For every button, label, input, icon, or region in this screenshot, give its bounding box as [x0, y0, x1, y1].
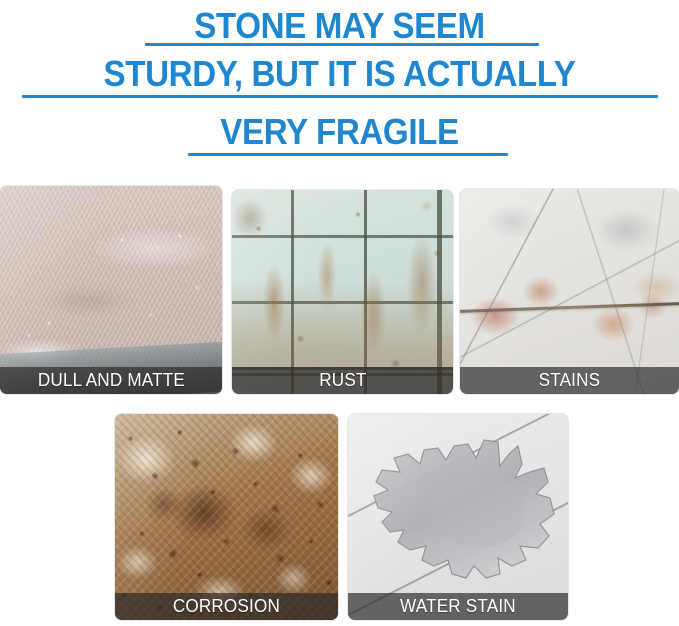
damage-tile-stains[interactable]: STAINS [460, 189, 679, 394]
damage-tile-dull-and-matte[interactable]: DULL AND MATTE [0, 186, 222, 394]
damage-tile-corrosion[interactable]: CORROSION [115, 414, 338, 620]
headline-underline-1 [145, 43, 539, 46]
damage-tile-water-stain[interactable]: WATER STAIN [348, 414, 568, 620]
caption-bar: RUST [232, 367, 453, 394]
caption-label: DULL AND MATTE [37, 370, 184, 391]
water-splash-shape-icon [348, 414, 568, 620]
stained-cracked-marble-photo [460, 189, 679, 394]
rusty-mint-green-tile-wall-photo [232, 190, 453, 394]
headline-underline-2 [22, 95, 658, 98]
water-stain-on-grey-tile-photo [348, 414, 568, 620]
caption-bar: DULL AND MATTE [0, 367, 222, 394]
damage-tile-rust[interactable]: RUST [232, 190, 453, 394]
headline-line-2: STURDY, BUT IT IS ACTUALLY [27, 54, 652, 94]
headline-block: STONE MAY SEEM STURDY, BUT IT IS ACTUALL… [0, 0, 679, 178]
caption-label: STAINS [539, 370, 601, 391]
pale-worn-stone-surface-photo [0, 186, 222, 394]
caption-bar: STAINS [460, 367, 679, 394]
caption-label: RUST [319, 370, 366, 391]
headline-line-1: STONE MAY SEEM [27, 6, 652, 46]
caption-label: WATER STAIN [400, 596, 516, 617]
caption-label: CORROSION [173, 596, 280, 617]
headline-line-3: VERY FRAGILE [27, 112, 652, 152]
caption-bar: WATER STAIN [348, 593, 568, 620]
headline-underline-3 [188, 153, 508, 156]
caption-bar: CORROSION [115, 593, 338, 620]
corroded-mottled-stone-photo [115, 414, 338, 620]
